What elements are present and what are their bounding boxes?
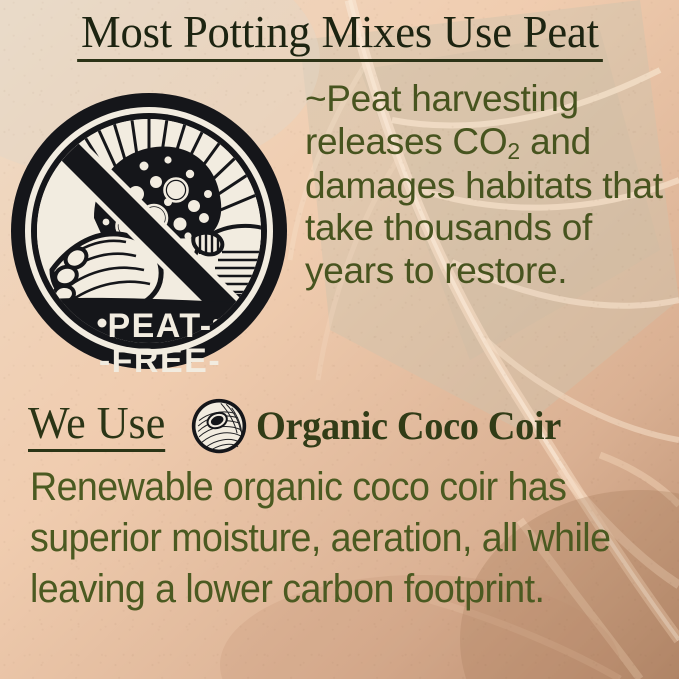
page-title: Most Potting Mixes Use Peat [77, 8, 603, 62]
organic-coco-coir-label: Organic Coco Coir [256, 406, 561, 446]
peat-impact-paragraph: ~Peat harvesting releases CO2 and damage… [305, 78, 673, 293]
coconut-icon [190, 397, 248, 455]
we-use-label: We Use [28, 401, 165, 452]
top-section: PEAT- -FREE- ~Peat harvesting releases C… [0, 74, 679, 380]
badge-line2: -FREE- [99, 342, 221, 372]
coco-coir-benefits-paragraph: Renewable organic coco coir has superior… [30, 462, 623, 616]
peat-free-infographic: Most Potting Mixes Use Peat [0, 0, 679, 679]
co2-subscript: 2 [507, 138, 520, 164]
badge-line1: PEAT- [107, 307, 212, 345]
peat-free-stamp-icon: PEAT- -FREE- [8, 90, 290, 372]
headline-container: Most Potting Mixes Use Peat [0, 8, 679, 62]
we-use-band: We Use [0, 395, 679, 457]
